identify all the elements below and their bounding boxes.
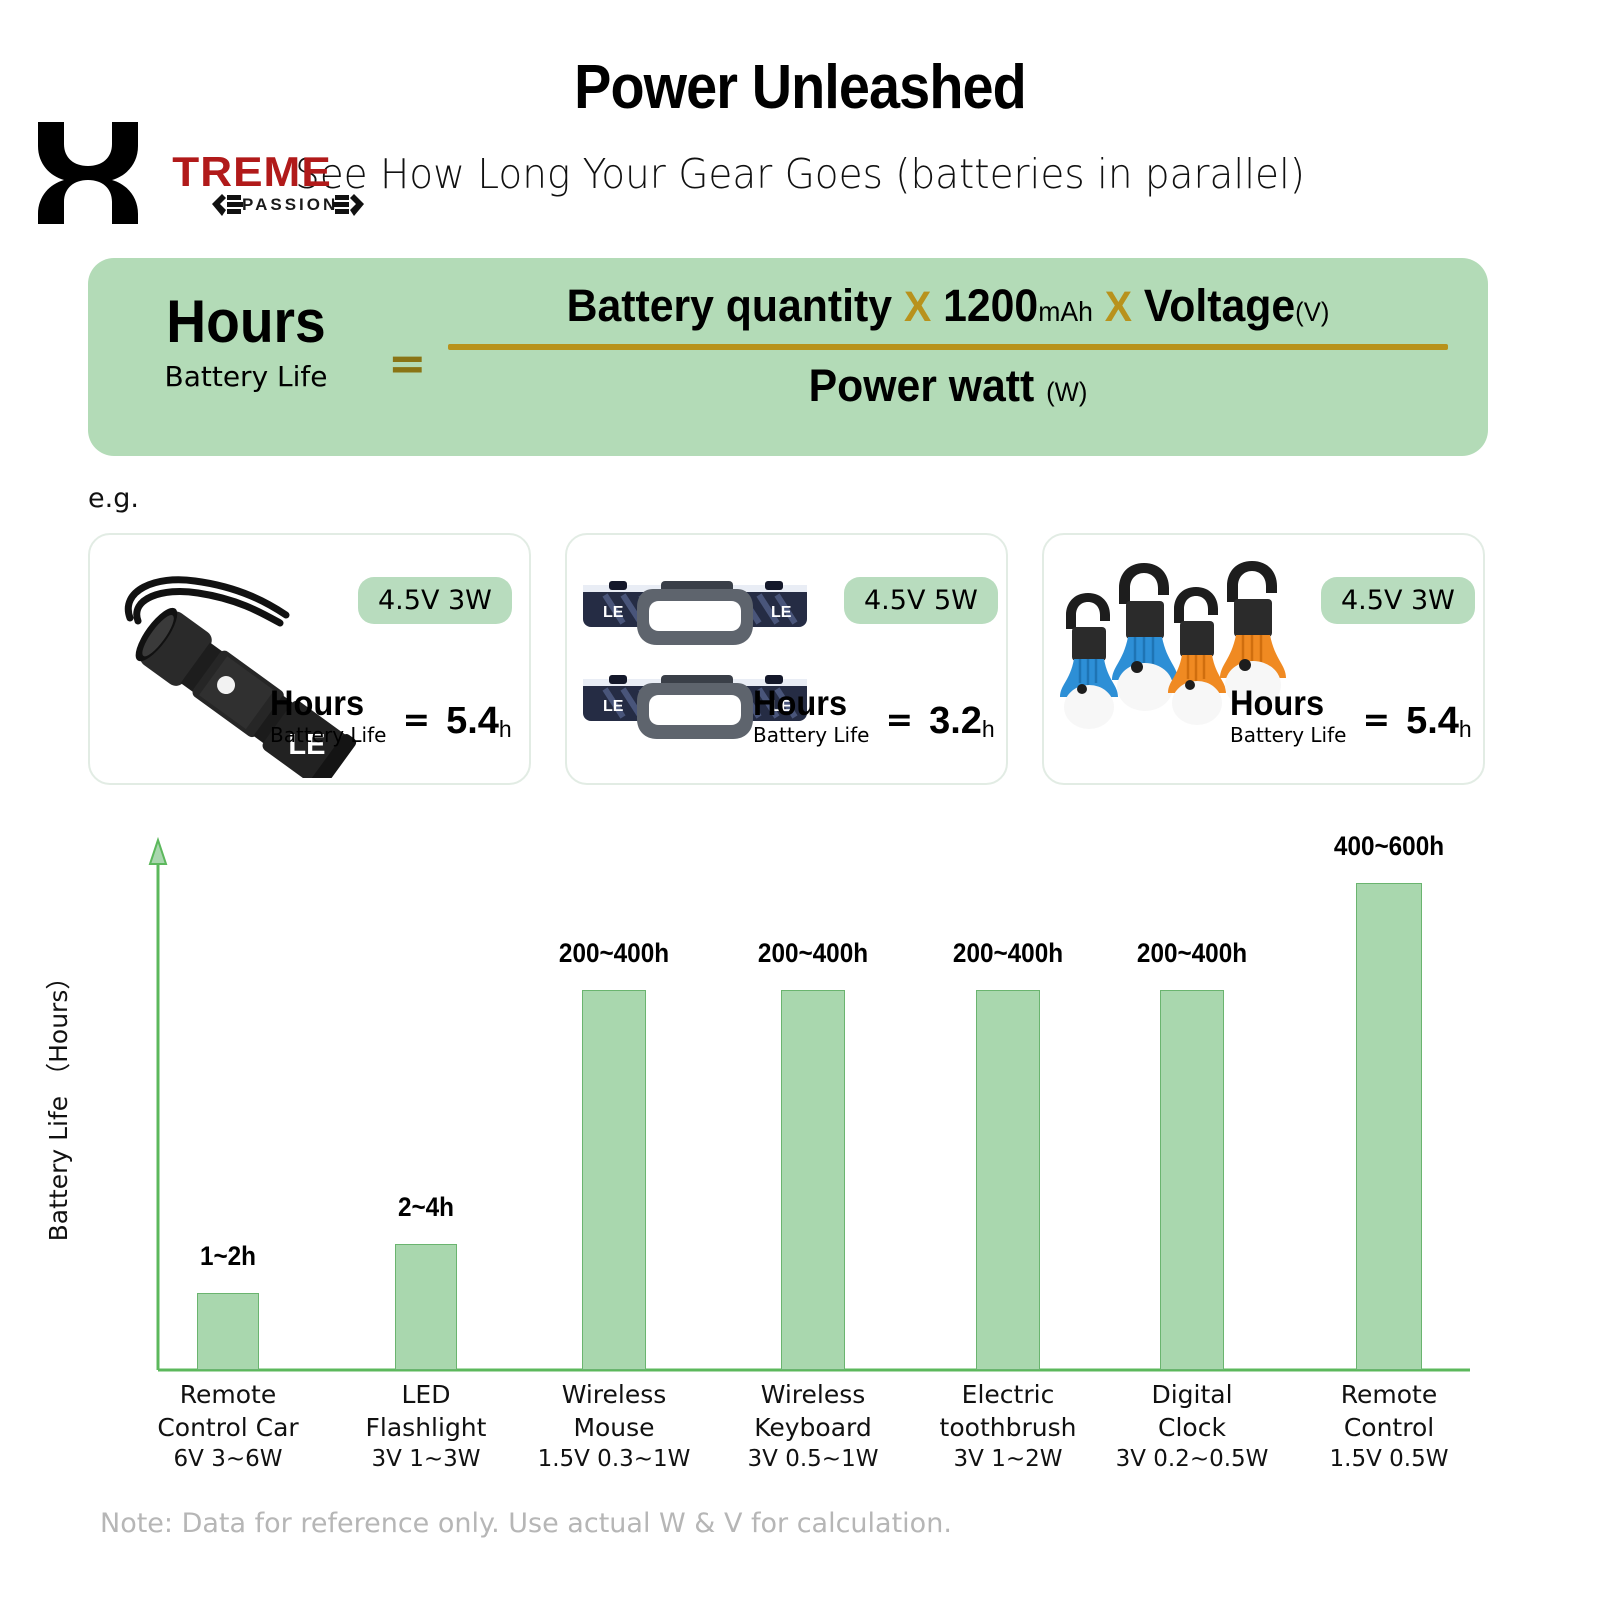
chart-bar-value-label: 1~2h — [129, 1241, 327, 1272]
x-tick-spec: 3V 0.2~0.5W — [1077, 1444, 1307, 1474]
calc-battery-life-label: Battery Life — [753, 723, 869, 747]
example-card-flashlight: LE 4.5V 3W Hours Battery Life = 5.4h — [88, 533, 531, 785]
x-tick-line-2: Control — [1274, 1411, 1504, 1444]
numerator-term-3-unit: (V) — [1295, 297, 1329, 327]
formula-battery-life-label: Battery Life — [116, 360, 376, 393]
battery-life-bar-chart: Battery Life （Hours） 1~2h2~4h200~400h200… — [0, 830, 1600, 1390]
svg-text:LE: LE — [603, 604, 624, 621]
fist-left-icon — [208, 190, 248, 222]
chart-bar-value-label: 200~400h — [909, 938, 1107, 969]
formula-hours-label: Hours — [126, 292, 365, 352]
svg-text:LE: LE — [603, 698, 624, 715]
x-tick-line-2: Control Car — [113, 1411, 343, 1444]
numerator-term-1: Battery quantity — [567, 280, 892, 331]
chart-x-tick: WirelessMouse1.5V 0.3~1W — [499, 1378, 729, 1474]
calc-equals-sign: = — [885, 700, 913, 739]
x-tick-line-1: Digital — [1077, 1378, 1307, 1411]
formula-numerator: Battery quantity X 1200mAh X Voltage(V) — [464, 280, 1433, 332]
calc-equals-sign: = — [1362, 700, 1390, 739]
calc-value: 5.4 — [446, 700, 499, 743]
logo-wordmark: TREME — [172, 148, 332, 196]
calc-equals-sign: = — [402, 700, 430, 739]
calculation-result: Hours Battery Life = 5.4h — [270, 686, 512, 747]
numerator-term-2: 1200 — [943, 280, 1038, 331]
calc-value: 3.2 — [929, 700, 982, 743]
chart-x-tick: RemoteControl1.5V 0.5W — [1274, 1378, 1504, 1474]
chart-bar — [395, 1244, 457, 1370]
formula-equals-sign: = — [388, 336, 427, 390]
chart-bar-value-label: 400~600h — [1290, 831, 1488, 862]
numerator-term-2-unit: mAh — [1038, 296, 1093, 327]
calc-hours-label: Hours — [753, 686, 861, 723]
spec-badge: 4.5V 5W — [844, 577, 998, 624]
logo-x-mark — [28, 118, 148, 228]
calc-hours-label: Hours — [1230, 686, 1338, 723]
calc-hours-label: Hours — [270, 686, 378, 723]
formula-denominator: Power watt (W) — [464, 360, 1433, 412]
footer-note: Note: Data for reference only. Use actua… — [100, 1508, 952, 1539]
chart-bar — [197, 1293, 259, 1370]
numerator-term-3: Voltage — [1144, 280, 1295, 331]
chart-x-tick: DigitalClock3V 0.2~0.5W — [1077, 1378, 1307, 1474]
calc-battery-life-label: Battery Life — [1230, 723, 1346, 747]
chart-bar — [582, 990, 646, 1370]
multiply-icon-1: X — [904, 283, 931, 331]
chart-bar-value-label: 200~400h — [515, 938, 713, 969]
x-tick-line-1: Remote — [113, 1378, 343, 1411]
formula-left-side: Hours Battery Life — [116, 292, 376, 393]
x-tick-line-1: Remote — [1274, 1378, 1504, 1411]
multiply-icon-2: X — [1105, 283, 1132, 331]
calculation-result: Hours Battery Life = 5.4h — [1230, 686, 1472, 747]
x-tick-line-2: Clock — [1077, 1411, 1307, 1444]
calc-unit: h — [1459, 716, 1472, 743]
x-tick-spec: 6V 3~6W — [113, 1444, 343, 1474]
brand-logo: TREME PASSION — [28, 118, 368, 228]
x-tick-spec: 1.5V 0.5W — [1274, 1444, 1504, 1474]
spec-badge: 4.5V 3W — [358, 577, 512, 624]
x-tick-line-1: Wireless — [499, 1378, 729, 1411]
infographic-page: Power Unleashed See How Long Your Gear G… — [0, 0, 1600, 1600]
calc-unit: h — [982, 716, 995, 743]
example-label: e.g. — [88, 483, 139, 514]
page-title: Power Unleashed — [80, 52, 1520, 123]
chart-bar — [781, 990, 845, 1370]
fist-right-icon — [328, 190, 368, 222]
chart-bar-value-label: 2~4h — [327, 1192, 525, 1223]
example-card-camping-bulb: 4.5V 3W Hours Battery Life = 5.4h — [1042, 533, 1485, 785]
chart-bar — [1356, 883, 1422, 1370]
chart-bar-value-label: 200~400h — [1093, 938, 1291, 969]
chart-bar — [1160, 990, 1224, 1370]
svg-text:LE: LE — [771, 604, 792, 621]
calc-unit: h — [499, 716, 512, 743]
chart-bar — [976, 990, 1040, 1370]
x-tick-spec: 1.5V 0.3~1W — [499, 1444, 729, 1474]
denominator-term: Power watt — [809, 360, 1035, 411]
spec-badge: 4.5V 3W — [1321, 577, 1475, 624]
calculation-result: Hours Battery Life = 3.2h — [753, 686, 995, 747]
calc-value: 5.4 — [1406, 700, 1459, 743]
fraction-bar — [448, 344, 1448, 350]
formula-panel: Hours Battery Life = Battery quantity X … — [88, 258, 1488, 456]
chart-bar-value-label: 200~400h — [714, 938, 912, 969]
calc-battery-life-label: Battery Life — [270, 723, 386, 747]
formula-fraction: Battery quantity X 1200mAh X Voltage(V) … — [438, 280, 1458, 412]
denominator-unit: (W) — [1046, 377, 1087, 407]
example-card-headlamp: LE LE LE LE LE LE 4.5V 5W — [565, 533, 1008, 785]
x-tick-line-2: Mouse — [499, 1411, 729, 1444]
chart-x-tick: RemoteControl Car6V 3~6W — [113, 1378, 343, 1474]
logo-tagline: PASSION — [242, 195, 338, 215]
